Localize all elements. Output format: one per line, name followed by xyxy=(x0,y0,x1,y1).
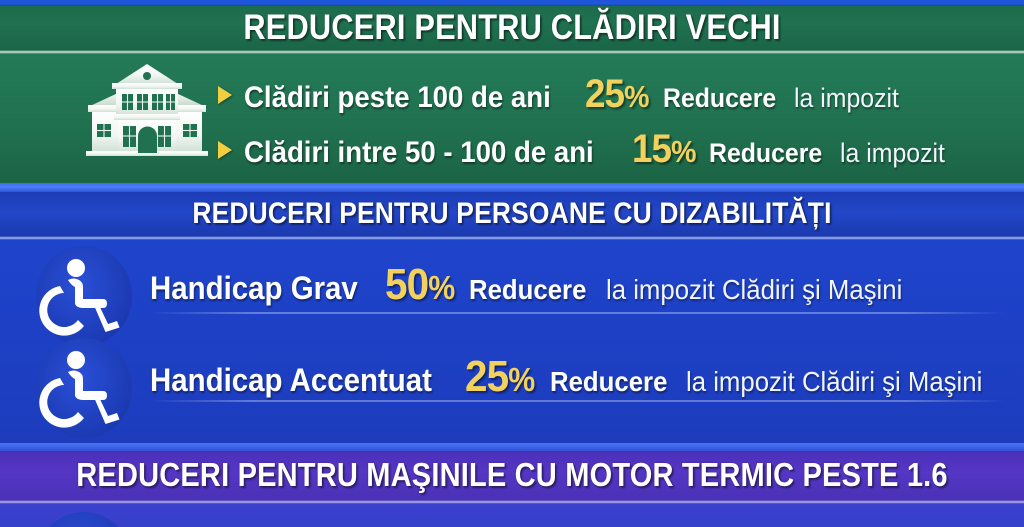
green-row-0-reduction-light: la impozit xyxy=(794,83,899,114)
triangle-bullet-icon xyxy=(218,86,232,104)
partial-circle-icon xyxy=(36,512,132,527)
wheelchair-icon xyxy=(36,246,132,346)
wheelchair-glyph xyxy=(36,246,132,346)
blue-row-separator-1 xyxy=(150,400,1005,402)
wheelchair-icon xyxy=(36,338,132,438)
blue-row-0-reduction-light: la impozit Clădiri şi Maşini xyxy=(606,274,902,306)
green-row-1-label: Clădiri intre 50 - 100 de ani xyxy=(244,136,594,170)
partial-circle-icon-background xyxy=(36,512,132,527)
blue-row-1-label: Handicap Accentuat xyxy=(150,362,432,399)
blue-top-stripe xyxy=(0,183,1024,192)
section-title-thermal-engine-cars: REDUCERI PENTRU MAŞINILE CU MOTOR TERMIC… xyxy=(61,456,962,494)
classic-building-icon xyxy=(74,62,220,160)
purple-body-band xyxy=(0,504,1024,527)
purple-top-stripe xyxy=(0,443,1024,451)
blue-row-1-reduction-light: la impozit Clădiri şi Maşini xyxy=(686,366,982,398)
green-row-1-percent: 15% xyxy=(632,127,696,172)
blue-row-1-percent: 25% xyxy=(465,352,534,402)
green-row-0-label: Clădiri peste 100 de ani xyxy=(244,81,551,115)
green-row-0-percent: 25% xyxy=(585,72,649,117)
blue-row-1: Handicap Accentuat 25% Reducere la impoz… xyxy=(150,352,1008,402)
blue-row-0: Handicap Grav 50% Reducere la impozit Cl… xyxy=(150,260,928,310)
blue-row-0-reduction-strong: Reducere xyxy=(469,274,586,306)
green-header-divider xyxy=(0,50,1024,54)
infographic-root: REDUCERI PENTRU CLĂDIRI VECHI xyxy=(0,0,1024,527)
blue-row-separator-0 xyxy=(150,312,1005,314)
green-row-0-reduction-strong: Reducere xyxy=(663,83,776,114)
green-row-1-reduction-strong: Reducere xyxy=(709,138,822,169)
section-title-old-buildings: REDUCERI PENTRU CLĂDIRI VECHI xyxy=(61,9,962,47)
section-title-disabilities: REDUCERI PENTRU PERSOANE CU DIZABILITĂȚI xyxy=(61,197,962,231)
blue-row-0-percent: 50% xyxy=(385,260,454,310)
green-row-0: Clădiri peste 100 de ani 25% Reducere la… xyxy=(218,72,908,117)
triangle-bullet-icon xyxy=(218,141,232,159)
green-row-1-reduction-light: la impozit xyxy=(840,138,945,169)
green-row-1: Clădiri intre 50 - 100 de ani 15% Reduce… xyxy=(218,127,954,172)
blue-row-1-reduction-strong: Reducere xyxy=(550,366,667,398)
wheelchair-glyph xyxy=(36,338,132,438)
blue-row-0-label: Handicap Grav xyxy=(150,270,358,307)
